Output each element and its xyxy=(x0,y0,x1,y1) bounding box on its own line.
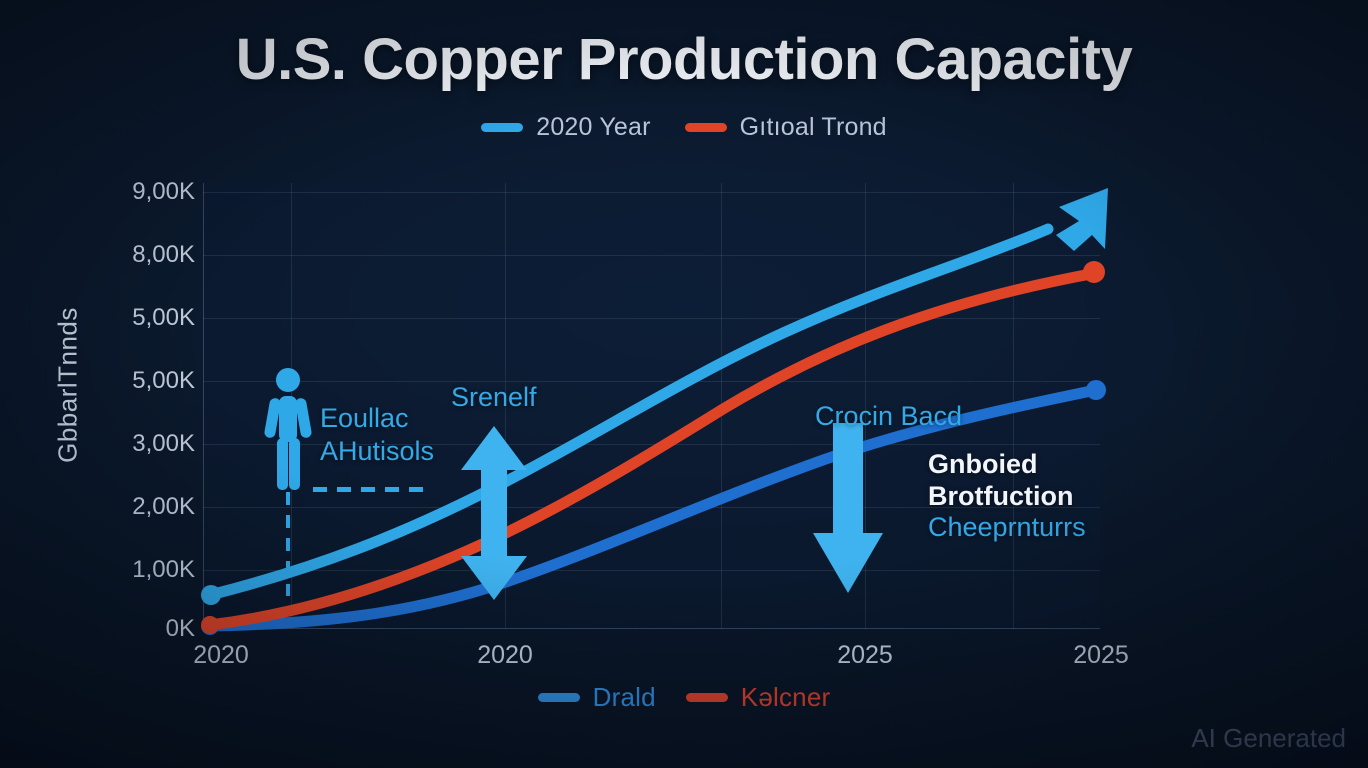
person-head-icon xyxy=(276,368,300,392)
page-title: U.S. Copper Production Capacity xyxy=(0,26,1368,93)
series-marker-global-trend-end xyxy=(1083,261,1105,283)
person-torso-icon xyxy=(279,396,297,442)
legend-label-drald: Drald xyxy=(593,682,656,713)
x-axis-ticks: 2020 2020 2025 2025 xyxy=(203,641,1100,675)
legend-item-2020-year[interactable]: 2020 Year xyxy=(481,113,650,142)
annotation-right-line1: Gnboied xyxy=(928,450,1086,479)
x-tick: 2020 xyxy=(193,641,249,670)
series-marker-2020-year-start xyxy=(201,585,221,605)
annotation-person-line1: Eoullac xyxy=(320,404,434,433)
chart-canvas: U.S. Copper Production Capacity 2020 Yea… xyxy=(0,0,1368,768)
dashed-connector-horizontal xyxy=(313,487,429,492)
annotation-right-block: Gnboied Brotfuction Cheeprnturrs xyxy=(928,450,1086,542)
x-tick: 2020 xyxy=(477,641,533,670)
y-tick: 2,00K xyxy=(132,493,195,521)
person-arm-right-icon xyxy=(295,397,313,438)
legend-label-global-trend: Gıtıoal Trond xyxy=(740,113,887,142)
annotation-person-line2: AHutisols xyxy=(320,437,434,466)
legend-swatch-blue xyxy=(481,123,523,132)
legend-swatch-blue-bottom xyxy=(538,693,580,702)
y-tick: 0K xyxy=(166,615,195,643)
arrow-down xyxy=(813,423,883,593)
person-leg-right-icon xyxy=(289,438,300,490)
y-axis-ticks: 9,00K 8,00K 5,00K 5,00K 3,00K 2,00K 1,00… xyxy=(110,183,195,629)
watermark: AI Generated xyxy=(1191,723,1346,754)
legend-bottom: Drald Kǝlcner xyxy=(0,682,1368,713)
x-tick: 2025 xyxy=(1073,641,1129,670)
y-tick: 5,00K xyxy=(132,304,195,332)
annotation-person: Eoullac AHutisols xyxy=(320,404,434,469)
legend-swatch-red-bottom xyxy=(686,693,728,702)
series-arrowhead-2020-year xyxy=(1056,188,1108,251)
y-tick: 3,00K xyxy=(132,430,195,458)
legend-label-kdcner: Kǝlcner xyxy=(741,682,831,713)
legend-item-drald[interactable]: Drald xyxy=(538,682,656,713)
y-tick: 5,00K xyxy=(132,367,195,395)
annotation-right-line3: Cheeprnturrs xyxy=(928,513,1086,542)
series-marker-drald-end xyxy=(1086,380,1106,400)
legend-item-global-trend[interactable]: Gıtıoal Trond xyxy=(685,113,887,142)
legend-label-2020-year: 2020 Year xyxy=(536,113,650,142)
legend-item-kdcner[interactable]: Kǝlcner xyxy=(686,682,831,713)
person-leg-left-icon xyxy=(277,438,288,490)
annotation-right-line2: Brotfuction xyxy=(928,482,1086,511)
x-tick: 2025 xyxy=(837,641,893,670)
dashed-connector-vertical xyxy=(286,492,290,596)
annotation-up-arrow-label: Srenelf xyxy=(451,383,537,412)
y-axis-title: GbbarlTnnds xyxy=(53,307,84,463)
y-tick: 9,00K xyxy=(132,178,195,206)
legend-top: 2020 Year Gıtıoal Trond xyxy=(0,113,1368,142)
annotation-down-arrow-label: Crocin Bacd xyxy=(815,402,962,431)
double-arrow-up-down xyxy=(461,426,527,600)
y-tick: 1,00K xyxy=(132,556,195,584)
y-tick: 8,00K xyxy=(132,241,195,269)
series-marker-global-trend-start xyxy=(201,616,219,634)
person-icon xyxy=(265,368,311,492)
legend-swatch-red xyxy=(685,123,727,132)
